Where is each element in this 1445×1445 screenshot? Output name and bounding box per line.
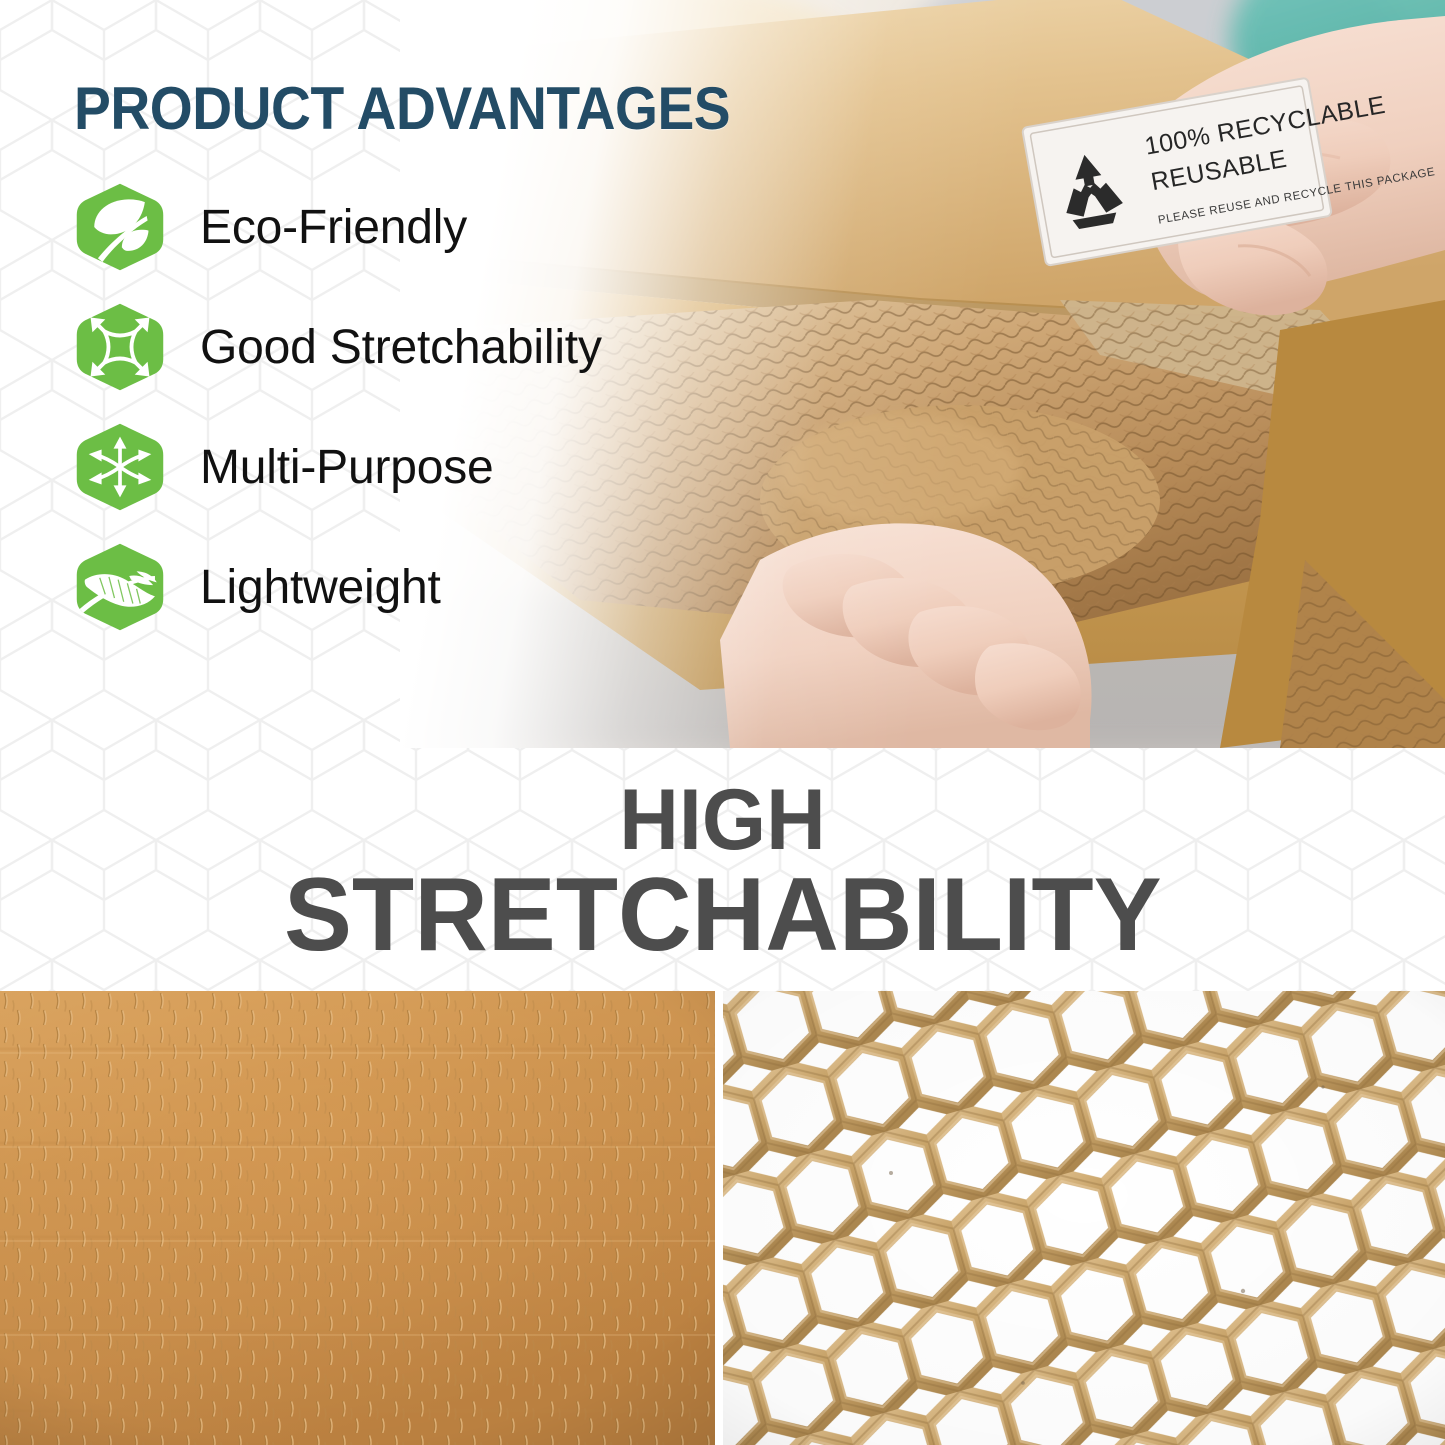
expand-arrows-icon (74, 301, 166, 393)
leaf-icon (74, 181, 166, 273)
advantage-badge (74, 541, 166, 633)
advantage-label: Multi-Purpose (200, 440, 494, 495)
advantage-label: Eco-Friendly (200, 200, 467, 255)
panel-stretched-mesh (723, 991, 1445, 1445)
advantage-item-lightweight: Lightweight (74, 542, 602, 632)
advantage-badge (74, 181, 166, 273)
advantage-item-multi-purpose: Multi-Purpose (74, 422, 602, 512)
panel-unstretched-paper (0, 991, 715, 1445)
comparison-panels (0, 991, 1445, 1445)
page-title: PRODUCT ADVANTAGES (74, 74, 730, 143)
advantage-badge (74, 301, 166, 393)
advantage-label: Lightweight (200, 560, 441, 615)
advantages-list: Eco-Friendly (74, 182, 602, 632)
advantage-label: Good Stretchability (200, 320, 602, 375)
stretched-honeycomb-texture (723, 991, 1445, 1445)
headline-line-1: HIGH (619, 780, 825, 861)
advantage-item-eco-friendly: Eco-Friendly (74, 182, 602, 272)
unstretched-honeycomb-texture (0, 991, 715, 1445)
top-section: 100% RECYCLABLE REUSABLE PLEASE REUSE AN… (0, 0, 1445, 750)
infographic-page: 100% RECYCLABLE REUSABLE PLEASE REUSE AN… (0, 0, 1445, 1445)
feather-icon (74, 541, 166, 633)
headline-block: HIGH STRETCHABILITY (0, 752, 1445, 992)
multi-direction-arrows-icon (74, 421, 166, 513)
advantage-item-good-stretchability: Good Stretchability (74, 302, 602, 392)
headline-line-2: STRETCHABILITY (284, 867, 1162, 965)
advantage-badge (74, 421, 166, 513)
